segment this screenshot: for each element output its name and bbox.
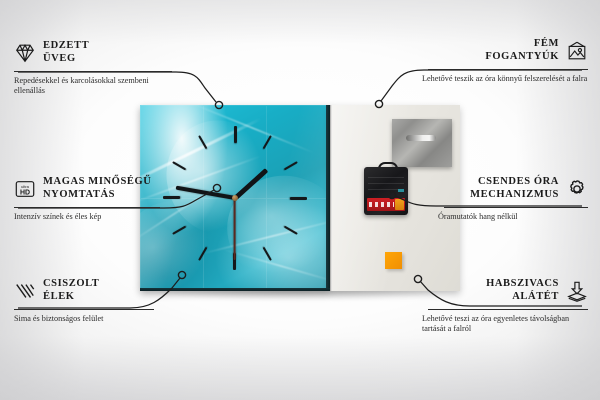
callout-description: Óramutatók hang nélkül (438, 212, 588, 223)
callout-habszivacs-alatet: HABSZIVACS ALÁTÉT Lehetővé teszi az óra … (422, 278, 588, 335)
callout-title-line2: FOGANTYÚK (422, 51, 559, 64)
clock-dial (160, 123, 310, 273)
clock-mechanism (364, 167, 408, 215)
callout-description: Intenzív színek és éles kép (14, 212, 166, 223)
callout-rule (428, 69, 588, 70)
svg-text:HD: HD (20, 189, 30, 196)
callout-title-line1: CSISZOLT (43, 278, 99, 291)
callout-title-line2: MECHANIZMUS (438, 189, 559, 202)
ultra-hd-icon: ultra HD (14, 178, 36, 200)
metal-hanger-plate (392, 119, 452, 167)
svg-text:ultra: ultra (21, 184, 30, 189)
callout-title-line1: CSENDES ÓRA (438, 176, 559, 189)
callout-magas-minosegu-nyomtatas: ultra HD MAGAS MINŐSÉGŰ NYOMTATÁS Intenz… (14, 176, 166, 222)
glass-bottom-edge (140, 288, 330, 291)
callout-title-line2: ÉLEK (43, 291, 99, 304)
infographic-canvas: EDZETT ÜVEG Repedésekkel és karcolásokka… (0, 0, 600, 400)
diamond-icon (14, 42, 36, 64)
callout-csendes-ora-mechanizmus: CSENDES ÓRA MECHANIZMUS Óramutatók hang … (438, 176, 588, 222)
callout-rule (14, 71, 172, 72)
mechanism-label (367, 198, 405, 211)
foam-pad-icon (566, 280, 588, 302)
gear-icon (566, 178, 588, 200)
callout-fem-fogantyuk: FÉM FOGANTYÚK Lehetővé teszik az óra kön… (422, 38, 588, 84)
clock-center-cap (232, 195, 238, 201)
polished-edges-icon (14, 280, 36, 302)
callout-description: Repedésekkel és karcolásokkal szembeni e… (14, 76, 178, 98)
callout-title-line1: MAGAS MINŐSÉGŰ (43, 176, 151, 189)
callout-rule (444, 207, 588, 208)
callout-title-line2: ALÁTÉT (422, 291, 559, 304)
callout-title-line1: EDZETT (43, 40, 89, 53)
callout-description: Sima és biztonságos felület (14, 314, 160, 325)
callout-title-line2: NYOMTATÁS (43, 189, 151, 202)
panel-seam (330, 105, 332, 291)
callout-title-line2: ÜVEG (43, 53, 89, 66)
callout-rule (428, 309, 588, 310)
callout-title-line1: FÉM (422, 38, 559, 51)
picture-hanger-icon (566, 40, 588, 62)
callout-rule (14, 207, 160, 208)
product-image (140, 105, 460, 291)
callout-edzett-uveg: EDZETT ÜVEG Repedésekkel és karcolásokka… (14, 40, 178, 97)
callout-csiszolt-elek: CSISZOLT ÉLEK Sima és biztonságos felüle… (14, 278, 160, 324)
hanger-slot (406, 135, 436, 141)
callout-rule (14, 309, 154, 310)
callout-description: Lehetővé teszi az óra egyenletes távolsá… (422, 314, 588, 336)
foam-pad (385, 252, 402, 269)
clock-front-glass-panel (140, 105, 330, 291)
callout-title-line1: HABSZIVACS (422, 278, 559, 291)
callout-description: Lehetővé teszik az óra könnyű felszerelé… (422, 74, 588, 85)
clock-second-hand (234, 198, 236, 260)
